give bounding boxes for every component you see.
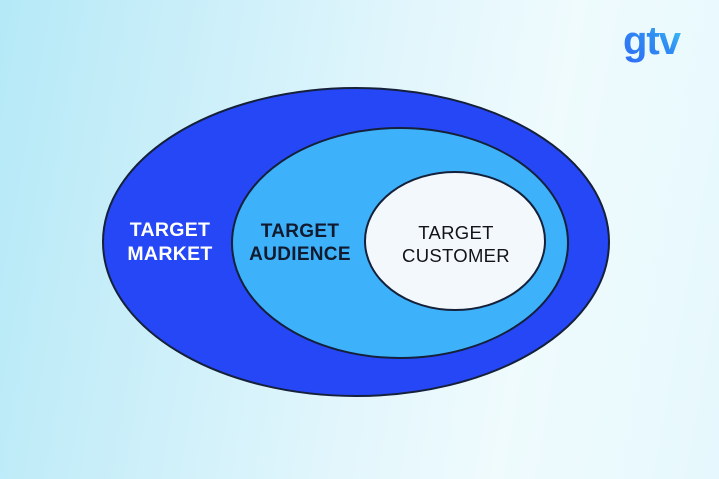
concentric-ellipse-diagram — [0, 0, 719, 479]
ellipse-target-customer[interactable] — [365, 172, 545, 310]
gtv-logo-icon: gtv — [623, 18, 697, 66]
gtv-logo-text: gtv — [623, 19, 682, 63]
diagram-canvas: TARGET MARKET TARGET AUDIENCE TARGET CUS… — [0, 0, 719, 479]
gtv-logo[interactable]: gtv — [623, 18, 697, 66]
